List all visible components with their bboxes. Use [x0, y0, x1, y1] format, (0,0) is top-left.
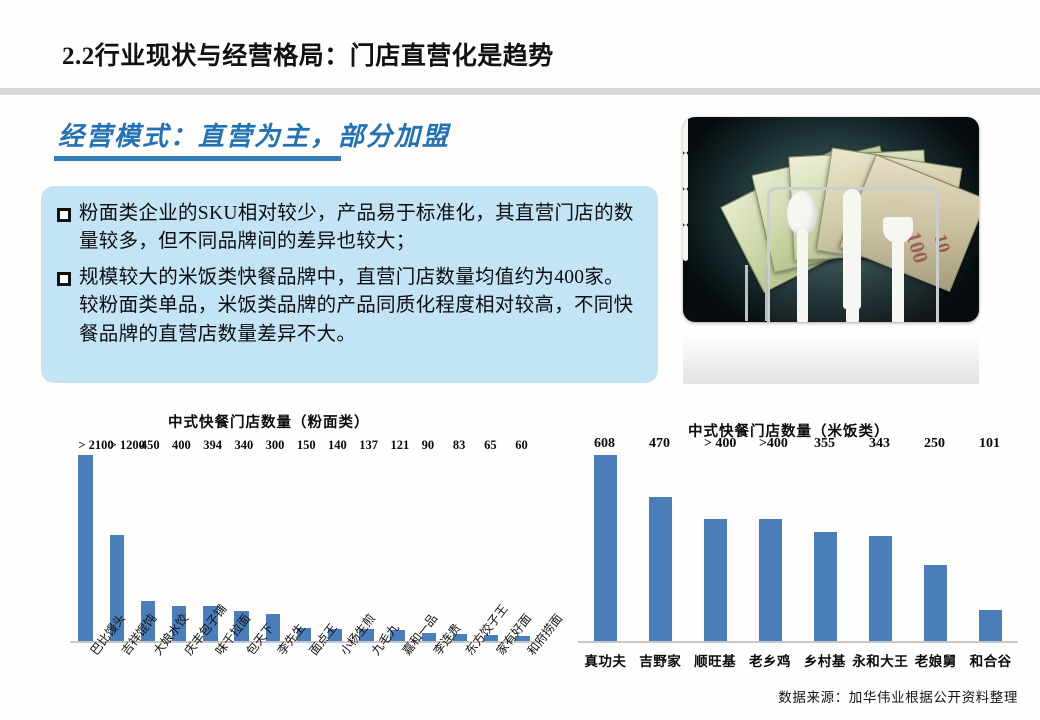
bar-chart-rice: 608470> 400>400355343250101	[578, 455, 1018, 643]
bar-value-label: 140	[328, 438, 347, 453]
square-bullet-icon	[57, 272, 71, 286]
callout-item-text: 粉面类企业的SKU相对较少，产品易于标准化，其直营门店的数量较多，但不同品牌间的…	[79, 200, 640, 257]
bar-value-label: 150	[297, 438, 316, 453]
fork-tine	[683, 225, 688, 261]
photo-figure: 100 10	[683, 117, 979, 322]
bar-slot: 343	[853, 455, 908, 641]
bar-value-label: > 2100	[78, 438, 113, 453]
section-subtitle: 经营模式：直营为主，部分加盟	[58, 116, 450, 153]
bar-slot: > 400	[688, 455, 743, 641]
bar-value-label: 101	[979, 436, 1000, 452]
source-note: 数据来源：加华伟业根据公开资料整理	[778, 686, 1018, 706]
bar: > 2100	[78, 455, 92, 641]
callout-item: 粉面类企业的SKU相对较少，产品易于标准化，其直营门店的数量较多，但不同品牌间的…	[57, 200, 640, 257]
bar-slot: 300	[257, 455, 288, 641]
bar: 355	[814, 532, 837, 641]
bar-value-label: 343	[869, 436, 890, 452]
slide-canvas: 2.2行业现状与经营格局：门店直营化是趋势 经营模式：直营为主，部分加盟 粉面类…	[0, 0, 1040, 720]
bar-slot: 608	[578, 455, 633, 641]
header-divider	[0, 88, 1040, 95]
bar-value-label: 250	[924, 436, 945, 452]
photo-reflection	[683, 322, 979, 384]
bar-slot: >400	[743, 455, 798, 641]
bar-value-label: 300	[266, 438, 285, 453]
callout-item-text: 规模较大的米饭类快餐品牌中，直营门店数量均值约为400家。较粉面类单品，米饭类品…	[79, 264, 640, 349]
chart-x-label: 和合谷	[963, 650, 1018, 670]
bar: 101	[979, 610, 1002, 641]
bar-value-label: 400	[172, 438, 191, 453]
bar: >400	[759, 519, 782, 641]
bar: 250	[924, 565, 947, 641]
bar: 470	[649, 497, 672, 641]
chart-x-label: 顺旺基	[688, 650, 743, 670]
spoon-handle	[797, 229, 808, 322]
section-subtitle-underline	[54, 156, 341, 161]
bar-slot: > 2100	[70, 455, 101, 641]
chart-x-label: 永和大王	[852, 650, 908, 670]
chart-title-noodles: 中式快餐门店数量（粉面类）	[168, 411, 370, 432]
bar-slot: 83	[444, 455, 475, 641]
chart-x-labels-rice: 真功夫吉野家顺旺基老乡鸡乡村基永和大王老娘舅和合谷	[578, 650, 1018, 670]
bar-value-label: 470	[649, 436, 670, 452]
bar-slot: 101	[963, 455, 1018, 641]
callout-item: 规模较大的米饭类快餐品牌中，直营门店数量均值约为400家。较粉面类单品，米饭类品…	[57, 264, 640, 349]
chart-x-label: 老乡鸡	[743, 650, 798, 670]
cutlery-and-banknotes-photo: 100 10	[683, 117, 979, 322]
page-title: 2.2行业现状与经营格局：门店直营化是趋势	[62, 36, 554, 72]
bar-chart-noodles: > 2100> 12004504003943403001501401371219…	[70, 455, 538, 643]
chart-x-label: 老娘舅	[908, 650, 963, 670]
knife-icon	[843, 189, 861, 309]
bar-value-label: 137	[359, 438, 378, 453]
bar-value-label: 90	[422, 438, 435, 453]
bar-value-label: > 400	[704, 436, 736, 452]
bar-slot: 140	[320, 455, 351, 641]
fork-handle	[892, 239, 904, 322]
bar-value-label: 83	[453, 438, 466, 453]
bar-value-label: 450	[141, 438, 160, 453]
bar-value-label: 60	[515, 438, 528, 453]
bar-value-label: >400	[759, 436, 788, 452]
bar-slot: 250	[908, 455, 963, 641]
bar-slot: 150	[288, 455, 319, 641]
callout-box: 粉面类企业的SKU相对较少，产品易于标准化，其直营门店的数量较多，但不同品牌间的…	[41, 186, 658, 383]
chart-x-label: 吉野家	[633, 650, 688, 670]
fork-icon	[683, 117, 688, 153]
chart-x-label: 乡村基	[797, 650, 852, 670]
bar-slot: 121	[382, 455, 413, 641]
bar: 608	[594, 455, 617, 641]
bar-value-label: 121	[390, 438, 409, 453]
cutlery-holder-leg	[765, 265, 768, 321]
chart-x-label: 真功夫	[578, 650, 633, 670]
knife-handle	[846, 297, 859, 322]
bar-value-label: 355	[814, 436, 835, 452]
fork-tine	[683, 153, 688, 189]
bar: 343	[869, 536, 892, 641]
bar-slot: 470	[633, 455, 688, 641]
bar-value-label: 608	[594, 436, 615, 452]
bar-slot: 355	[798, 455, 853, 641]
fork-tine	[683, 189, 688, 225]
bar-value-label: 340	[234, 438, 253, 453]
cutlery-holder-leg	[745, 265, 748, 321]
bar-value-label: > 1200	[110, 438, 145, 453]
bar: > 400	[704, 519, 727, 641]
square-bullet-icon	[57, 208, 71, 222]
bar-value-label: 394	[203, 438, 222, 453]
bar-value-label: 65	[484, 438, 497, 453]
